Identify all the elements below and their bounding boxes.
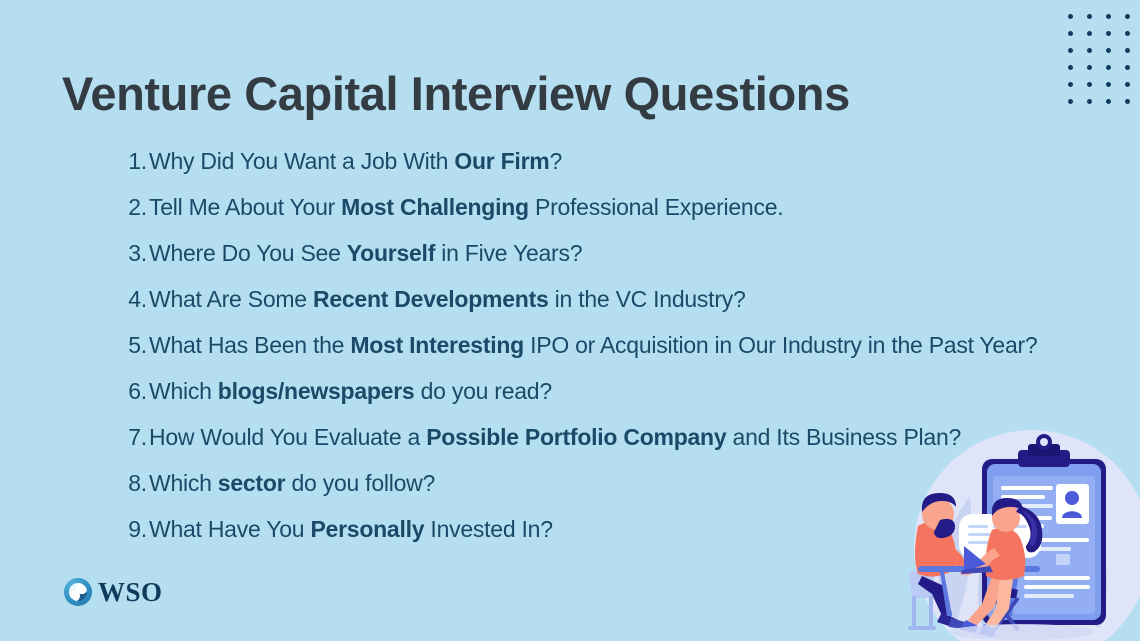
text-post: do you read? bbox=[414, 378, 551, 404]
text-emphasis: Yourself bbox=[347, 240, 435, 266]
text-emphasis: Recent Developments bbox=[313, 286, 549, 312]
text-post: do you follow? bbox=[285, 470, 435, 496]
dot bbox=[1106, 48, 1111, 53]
text-emphasis: Our Firm bbox=[454, 148, 549, 174]
list-item-text: What Are Some Recent Developments in the… bbox=[149, 286, 746, 313]
list-item-text: How Would You Evaluate a Possible Portfo… bbox=[149, 424, 961, 451]
list-item-text: Why Did You Want a Job With Our Firm? bbox=[149, 148, 562, 175]
list-item: 2. Tell Me About Your Most Challenging P… bbox=[102, 194, 1112, 240]
page-title: Venture Capital Interview Questions bbox=[62, 67, 850, 121]
text-post: Invested In? bbox=[424, 516, 552, 542]
text-pre: What Are Some bbox=[149, 286, 313, 312]
list-item: 6. Which blogs/newspapers do you read? bbox=[102, 378, 1112, 424]
dot bbox=[1087, 14, 1092, 19]
text-post: in Five Years? bbox=[435, 240, 582, 266]
dot bbox=[1125, 65, 1130, 70]
dot bbox=[1106, 65, 1111, 70]
text-emphasis: sector bbox=[218, 470, 286, 496]
text-pre: Which bbox=[149, 378, 218, 404]
dot bbox=[1068, 31, 1073, 36]
text-emphasis: Most Challenging bbox=[341, 194, 529, 220]
list-item-number: 2. bbox=[102, 194, 147, 221]
list-item-text: Tell Me About Your Most Challenging Prof… bbox=[149, 194, 783, 221]
text-pre: Where Do You See bbox=[149, 240, 347, 266]
text-post: IPO or Acquisition in Our Industry in th… bbox=[524, 332, 1037, 358]
dot bbox=[1068, 14, 1073, 19]
dot bbox=[1068, 65, 1073, 70]
list-item: 1. Why Did You Want a Job With Our Firm? bbox=[102, 148, 1112, 194]
slide-canvas: Venture Capital Interview Questions 1. W… bbox=[0, 0, 1140, 641]
list-item: 3. Where Do You See Yourself in Five Yea… bbox=[102, 240, 1112, 286]
text-pre: How Would You Evaluate a bbox=[149, 424, 426, 450]
wso-wordmark: WSO bbox=[98, 579, 163, 606]
text-pre: Which bbox=[149, 470, 218, 496]
dot bbox=[1087, 99, 1092, 104]
list-item-text: What Have You Personally Invested In? bbox=[149, 516, 553, 543]
dot bbox=[1068, 48, 1073, 53]
dot bbox=[1087, 65, 1092, 70]
dot bbox=[1087, 31, 1092, 36]
list-item-number: 4. bbox=[102, 286, 147, 313]
list-item-number: 8. bbox=[102, 470, 147, 497]
text-pre: Tell Me About Your bbox=[149, 194, 341, 220]
text-post: Professional Experience. bbox=[529, 194, 784, 220]
text-pre: What Have You bbox=[149, 516, 310, 542]
dot bbox=[1068, 99, 1073, 104]
list-item-number: 3. bbox=[102, 240, 147, 267]
wso-logo: WSO bbox=[64, 578, 163, 606]
dot bbox=[1125, 48, 1130, 53]
dot bbox=[1106, 31, 1111, 36]
list-item-number: 7. bbox=[102, 424, 147, 451]
text-emphasis: Personally bbox=[310, 516, 424, 542]
dot bbox=[1106, 82, 1111, 87]
list-item: 4. What Are Some Recent Developments in … bbox=[102, 286, 1112, 332]
dot bbox=[1087, 48, 1092, 53]
text-emphasis: Most Interesting bbox=[350, 332, 524, 358]
text-emphasis: Possible Portfolio Company bbox=[426, 424, 726, 450]
dot bbox=[1106, 99, 1111, 104]
list-item-number: 5. bbox=[102, 332, 147, 359]
wso-globe-icon bbox=[64, 578, 92, 606]
dot bbox=[1087, 82, 1092, 87]
list-item-number: 1. bbox=[102, 148, 147, 175]
dot bbox=[1106, 14, 1111, 19]
list-item-text: Which blogs/newspapers do you read? bbox=[149, 378, 552, 405]
dot bbox=[1125, 14, 1130, 19]
text-post: in the VC Industry? bbox=[549, 286, 746, 312]
text-pre: What Has Been the bbox=[149, 332, 350, 358]
list-item-text: Where Do You See Yourself in Five Years? bbox=[149, 240, 582, 267]
list-item-text: Which sector do you follow? bbox=[149, 470, 435, 497]
dot bbox=[1125, 99, 1130, 104]
text-emphasis: blogs/newspapers bbox=[218, 378, 415, 404]
dot bbox=[1125, 31, 1130, 36]
job-interview-illustration bbox=[896, 426, 1140, 641]
text-pre: Why Did You Want a Job With bbox=[149, 148, 454, 174]
list-item-number: 6. bbox=[102, 378, 147, 405]
list-item-text: What Has Been the Most Interesting IPO o… bbox=[149, 332, 1037, 359]
dot bbox=[1125, 82, 1130, 87]
list-item-number: 9. bbox=[102, 516, 147, 543]
text-post: ? bbox=[549, 148, 562, 174]
dot-grid-decoration bbox=[1068, 14, 1140, 116]
list-item: 5. What Has Been the Most Interesting IP… bbox=[102, 332, 1112, 378]
dot bbox=[1068, 82, 1073, 87]
